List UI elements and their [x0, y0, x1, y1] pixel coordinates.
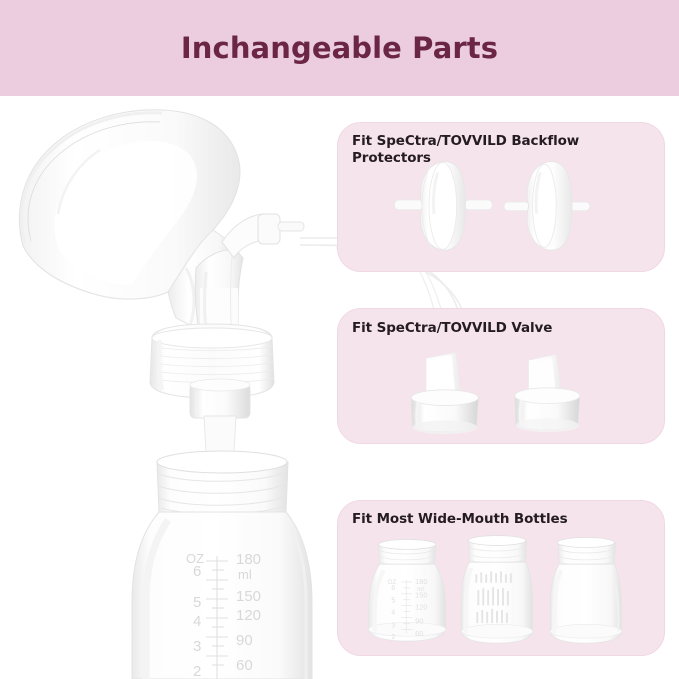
scale-ml-120: 120 — [236, 607, 261, 624]
backflow-protector-side — [504, 162, 590, 251]
cbottle-ml-180: 180 — [415, 577, 427, 586]
ribbed-collar — [150, 324, 274, 398]
cbottle-ml-90: 90 — [415, 616, 423, 625]
scale-oz-4: 4 — [193, 613, 201, 630]
cbottle-oz-6: 6 — [391, 585, 395, 592]
callout-bottles-label: Fit Most Wide-Mouth Bottles — [352, 511, 652, 528]
duckbill-valve-main — [190, 379, 250, 457]
bottle-textured — [462, 536, 533, 644]
page-title: Inchangeable Parts — [181, 31, 498, 65]
cbottle-ml-60: 60 — [415, 629, 423, 638]
pump-connector-body — [195, 214, 304, 338]
scale-ml-150: 150 — [236, 588, 261, 605]
header-band: Inchangeable Parts — [0, 0, 679, 96]
scale-oz-5: 5 — [193, 594, 201, 611]
scale-ml-header: ml — [238, 567, 252, 582]
scale-oz-2: 2 — [193, 663, 201, 679]
cbottle-oz-2: 2 — [391, 634, 395, 641]
backflow-protector-front — [394, 162, 492, 251]
scale-oz-6: 6 — [193, 563, 201, 580]
cbottle-ml-120: 120 — [415, 603, 427, 612]
callout-backflow-label: Fit SpeCtra/TOVVILD Backflow Protectors — [352, 133, 632, 167]
callout-wide-mouth-bottles[interactable]: OZ 180 ml 6 150 5 120 4 90 3 60 2 — [337, 500, 665, 656]
scale-ml-60: 60 — [236, 657, 253, 674]
cbottle-ml-150: 150 — [415, 591, 427, 600]
bottle-plain — [550, 538, 621, 644]
infographic-page: Inchangeable Parts — [0, 0, 679, 679]
callout-valve-label: Fit SpeCtra/TOVVILD Valve — [352, 320, 642, 337]
cbottle-oz-5: 5 — [391, 598, 395, 605]
cbottle-oz-4: 4 — [391, 610, 395, 617]
callout-backflow-protectors[interactable]: Fit SpeCtra/TOVVILD Backflow Protectors — [337, 122, 665, 272]
breast-shield-flange — [19, 110, 240, 330]
duckbill-valve-front — [411, 352, 478, 434]
scale-ml-90: 90 — [236, 632, 253, 649]
callout-valve[interactable]: Fit SpeCtra/TOVVILD Valve — [337, 308, 665, 444]
scale-oz-3: 3 — [193, 638, 201, 655]
wide-mouth-bottle — [132, 451, 312, 679]
scale-ml-180: 180 — [236, 551, 261, 568]
cbottle-oz-3: 3 — [391, 622, 395, 629]
bottle-with-scale: OZ 180 ml 6 150 5 120 4 90 3 60 2 — [369, 540, 446, 642]
duckbill-valve-side — [515, 354, 580, 432]
